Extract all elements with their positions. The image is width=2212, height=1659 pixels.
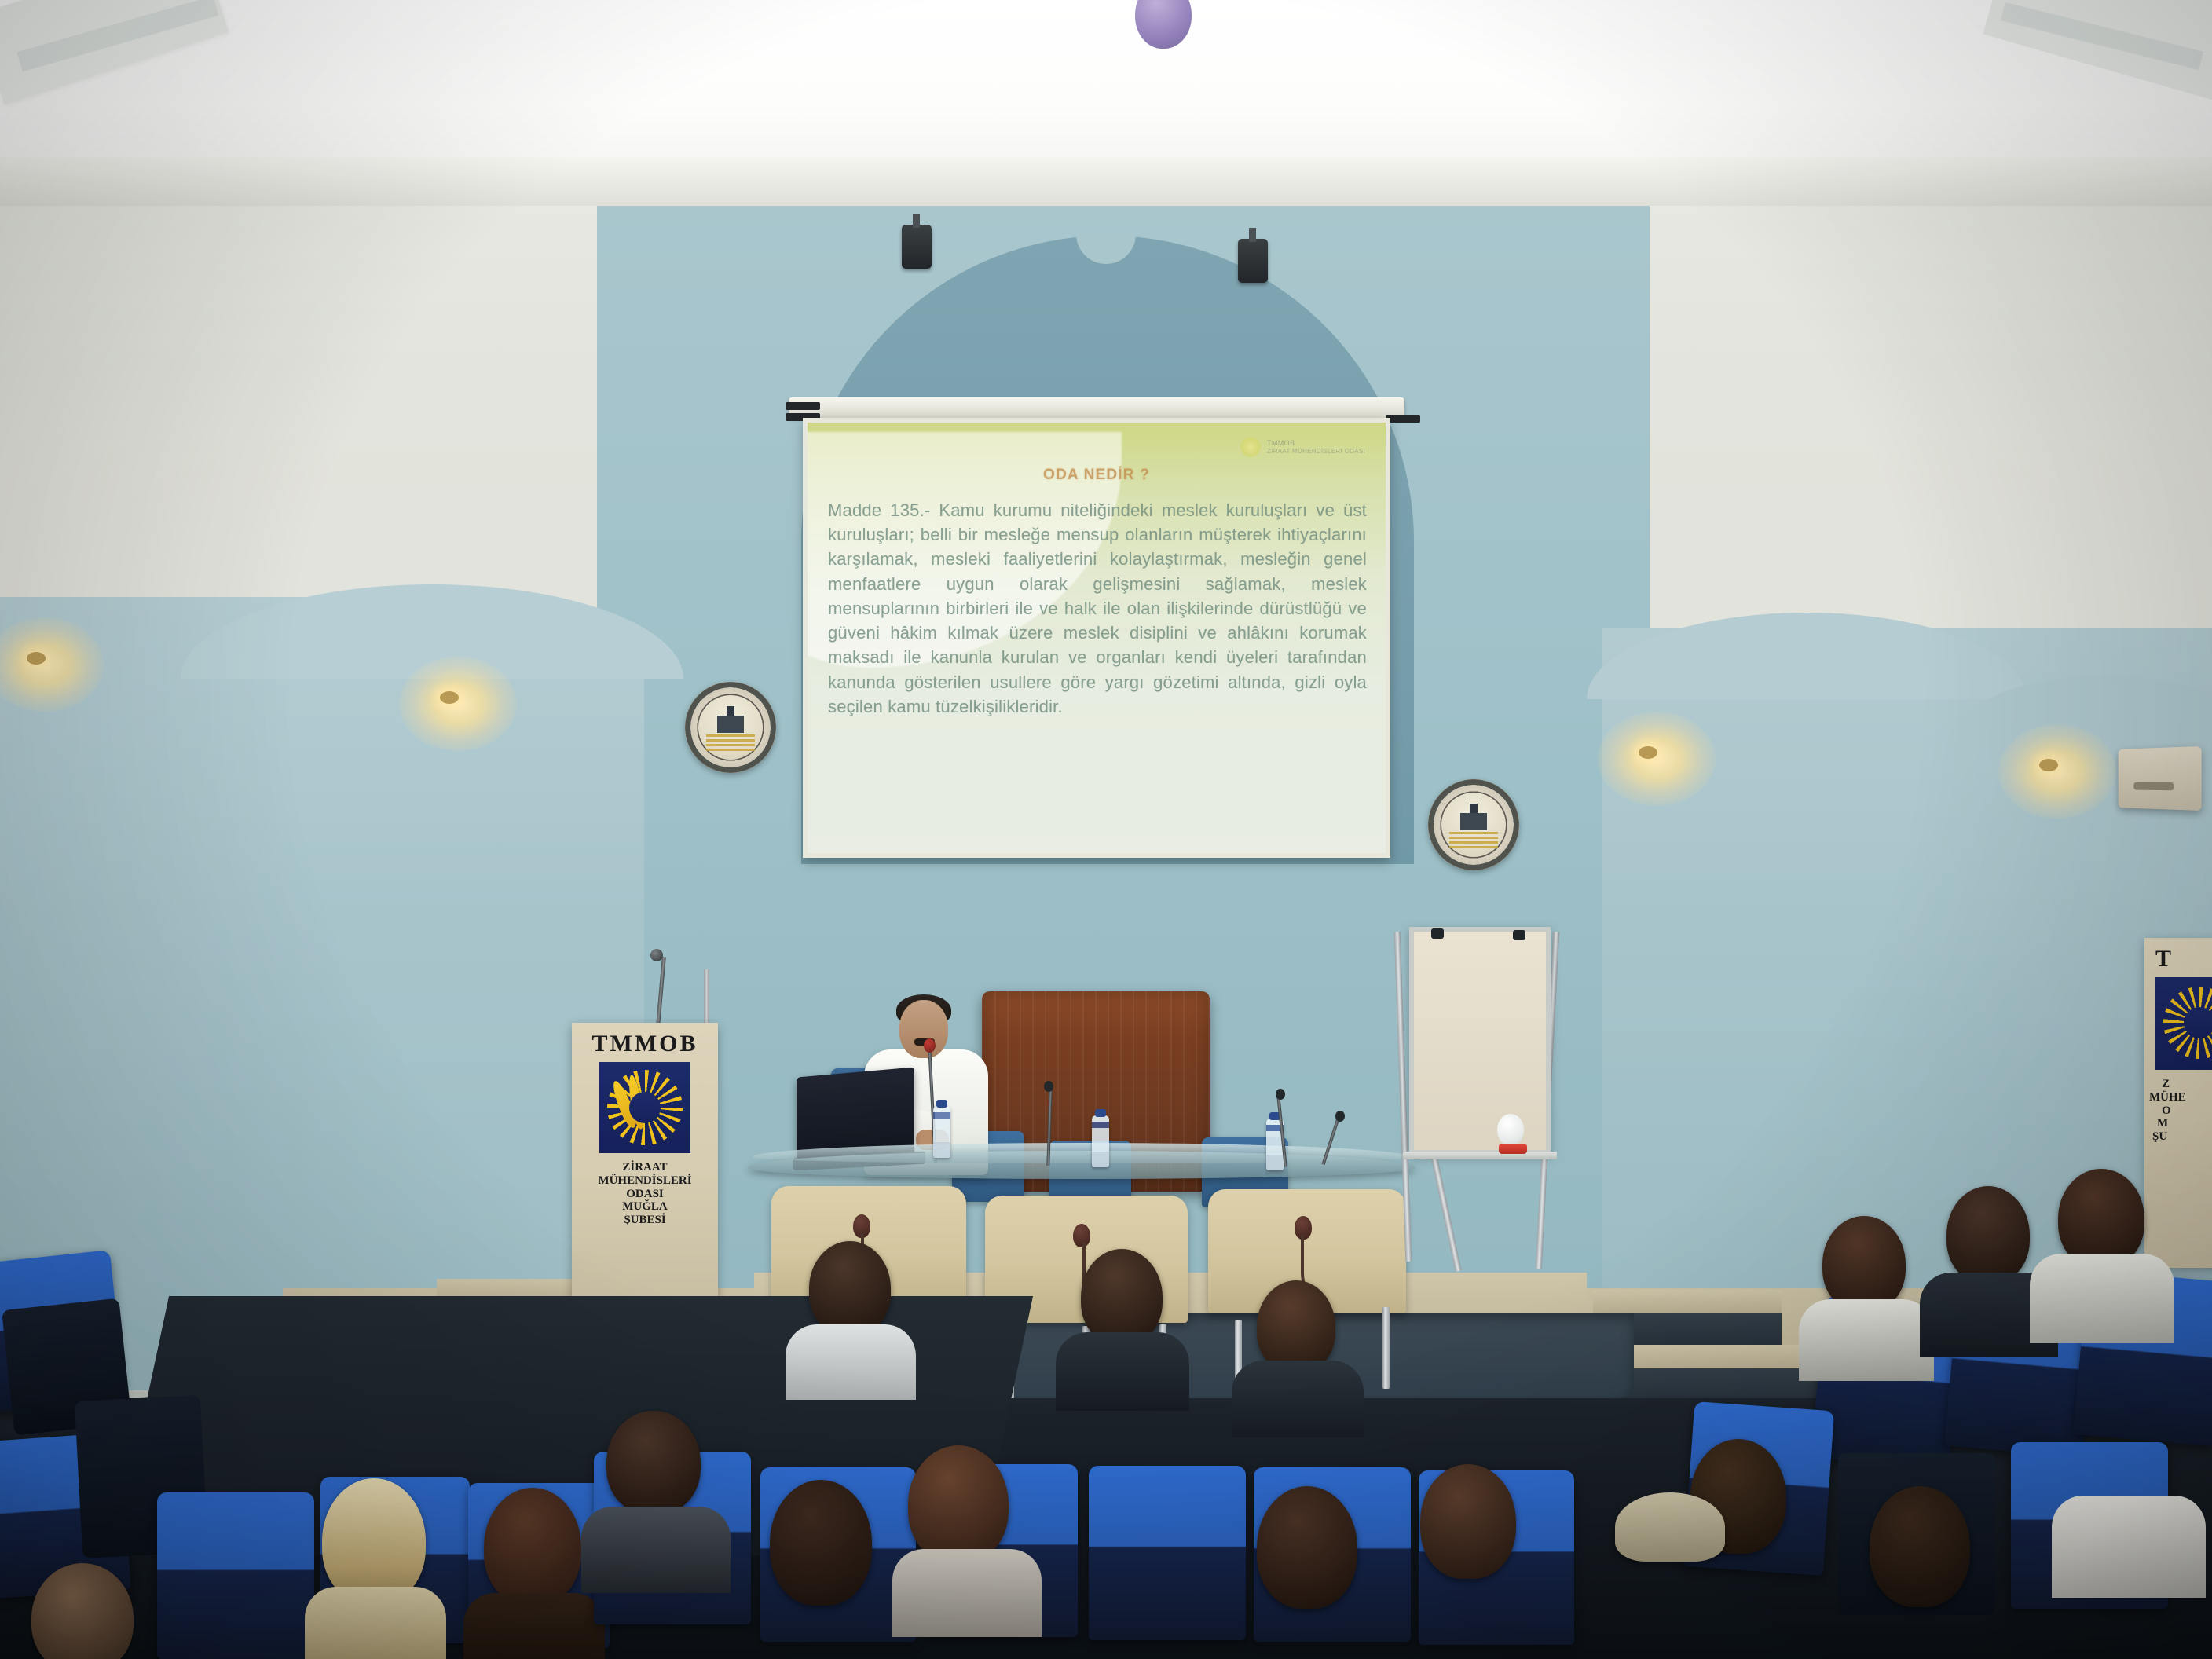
banner-line-5: ŞU <box>2152 1130 2212 1144</box>
seal-ring <box>685 682 776 773</box>
sconce-glow <box>399 657 517 751</box>
spotlight-icon <box>902 225 932 269</box>
spotlight-icon <box>1238 239 1268 283</box>
tmmob-logo-icon <box>2155 977 2212 1070</box>
tmmob-banner-right: T Z MÜHE O M ŞU <box>2144 938 2212 1268</box>
slide-logo-text: TMMOB ZİRAAT MÜHENDİSLERİ ODASI <box>1267 439 1365 455</box>
audience-head <box>1870 1486 1970 1607</box>
banner-line-1: Z <box>2162 1078 2212 1091</box>
banner-line-2: MÜHENDİSLERİ <box>572 1174 718 1188</box>
banner-line-5: ŞUBESİ <box>572 1214 718 1227</box>
banner-line-4: M <box>2157 1117 2212 1130</box>
audience-head <box>1257 1486 1357 1609</box>
tmmob-core <box>629 1092 661 1123</box>
audience-head-blonde <box>322 1478 426 1604</box>
audience-shoulders <box>1056 1332 1189 1411</box>
board-clip <box>1431 928 1444 939</box>
audience-area <box>0 1257 2212 1659</box>
banner-title: T <box>2155 946 2212 972</box>
banner-line-4: MUĞLA <box>572 1200 718 1214</box>
audience-shoulders <box>581 1507 731 1593</box>
board-clip <box>1513 930 1525 940</box>
audience-shoulders <box>1799 1299 1934 1381</box>
roller-clip <box>1386 415 1420 423</box>
speaker-grille-icon <box>2133 782 2174 790</box>
audience-head <box>908 1445 1009 1563</box>
glass-table-top <box>748 1151 1415 1179</box>
audience-shoulders <box>786 1324 916 1400</box>
sconce-glow <box>1998 724 2116 819</box>
audience-head <box>809 1241 891 1335</box>
seal-ring <box>1428 779 1519 870</box>
sconce-glow <box>1598 712 1716 806</box>
slide-logo: TMMOB ZİRAAT MÜHENDİSLERİ ODASI <box>1240 437 1365 457</box>
microphone-icon <box>1276 1089 1285 1100</box>
banner-line-3: ODASI <box>572 1188 718 1201</box>
slide-title: ODA NEDİR ? <box>808 467 1386 484</box>
audience-head <box>1257 1280 1335 1373</box>
audience-head <box>1420 1464 1516 1579</box>
audience-shoulders <box>463 1593 605 1659</box>
eraser-icon <box>1499 1144 1527 1154</box>
microphone-icon <box>924 1038 936 1053</box>
audience-hat <box>1615 1492 1725 1562</box>
water-bottle <box>933 1106 950 1158</box>
ceiling-beam <box>0 157 2212 206</box>
audience-shoulders <box>1232 1361 1364 1437</box>
audience-head <box>606 1411 701 1514</box>
audience-head <box>1822 1216 1906 1312</box>
wall-speaker-box <box>2119 746 2202 811</box>
audience-head <box>1081 1249 1163 1345</box>
speaker-head <box>899 1000 948 1058</box>
slide-logo-line2: ZİRAAT MÜHENDİSLERİ ODASI <box>1267 448 1365 455</box>
banner-title: TMMOB <box>572 1031 718 1057</box>
audience-head <box>484 1488 581 1606</box>
microphone-icon <box>1044 1081 1053 1092</box>
projection-screen: TMMOB ZİRAAT MÜHENDİSLERİ ODASI ODA NEDİ… <box>803 412 1390 867</box>
audience-shoulders <box>2030 1254 2174 1343</box>
screen-roller-bar <box>789 397 1404 418</box>
microphone-icon <box>1335 1111 1345 1122</box>
bottle-cap <box>936 1100 947 1108</box>
slide-logo-mark-icon <box>1240 437 1261 457</box>
banner-line-2: MÜHE <box>2149 1091 2212 1104</box>
auditorium-photo: TMMOB ZİRAAT MÜHENDİSLERİ ODASI ODA NEDİ… <box>0 0 2212 1659</box>
wall-seal-emblem-left <box>685 682 776 773</box>
seat <box>1089 1466 1246 1640</box>
tmmob-logo-icon <box>599 1062 690 1153</box>
tmmob-core <box>2184 1007 2212 1038</box>
audience-head-glasses <box>1946 1186 2030 1284</box>
sconce-bulb-icon <box>440 691 459 704</box>
audience-shoulders <box>305 1587 446 1659</box>
board-tray <box>1403 1152 1557 1159</box>
bottle-cap <box>1095 1109 1106 1117</box>
flip-chart-board <box>1409 927 1551 1155</box>
sconce-bulb-icon <box>27 652 46 665</box>
balloon-icon <box>1497 1114 1524 1145</box>
audience-shoulders <box>892 1549 1042 1637</box>
screen-surface: TMMOB ZİRAAT MÜHENDİSLERİ ODASI ODA NEDİ… <box>803 418 1390 858</box>
banner-line-1: ZİRAAT <box>572 1161 718 1174</box>
roller-clip <box>786 402 820 410</box>
audience-shoulders <box>2052 1496 2206 1598</box>
slide-logo-line1: TMMOB <box>1267 439 1365 447</box>
spotlight-arm <box>913 214 920 228</box>
slide-body-text: Madde 135.- Kamu kurumu niteliğindeki me… <box>828 498 1367 719</box>
audience-head <box>770 1480 872 1606</box>
wall-seal-emblem-right <box>1428 779 1519 870</box>
microphone-icon <box>650 949 663 961</box>
seat <box>157 1492 314 1659</box>
sconce-bulb-icon <box>1639 746 1657 759</box>
water-bottle <box>1092 1115 1109 1167</box>
banner-line-3: O <box>2162 1104 2212 1118</box>
spotlight-arm <box>1249 228 1256 242</box>
slide-content: TMMOB ZİRAAT MÜHENDİSLERİ ODASI ODA NEDİ… <box>808 423 1386 853</box>
sconce-bulb-icon <box>2039 759 2058 771</box>
